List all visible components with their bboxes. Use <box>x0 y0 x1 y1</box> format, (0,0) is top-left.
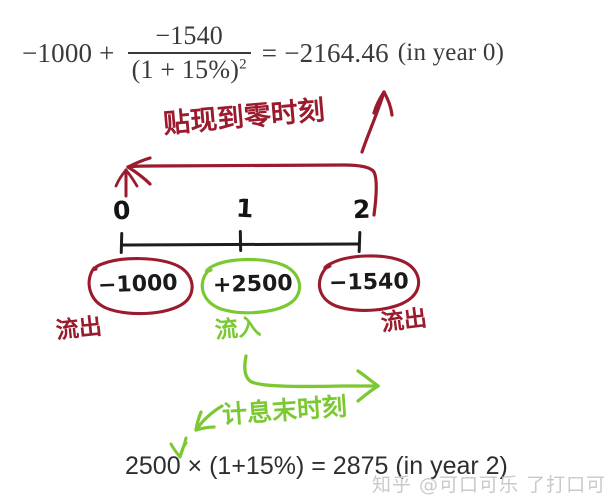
timeline-tick-year-1 <box>239 230 242 252</box>
cashflow-amount-year-0: −1000 <box>98 273 178 298</box>
denominator-base: (1 + 15%) <box>132 55 239 84</box>
top-formula-fraction: −1540 (1 + 15%)2 <box>128 22 251 83</box>
year-label-0: 0 <box>112 197 131 223</box>
top-formula-lead: −1000 + <box>22 38 115 69</box>
flow-label-year-1-inflow: 流入 <box>214 316 262 343</box>
red-annotation-discount-to-time-zero: 贴现到零时刻 <box>162 97 326 138</box>
top-formula-equals: = <box>262 38 277 69</box>
year-label-2: 2 <box>353 197 371 223</box>
fraction-denominator: (1 + 15%)2 <box>128 54 251 84</box>
cashflow-amount-year-1: +2500 <box>213 273 293 297</box>
year-label-1: 1 <box>235 196 254 222</box>
handwritten-cashflow-diagram: −1000 + −1540 (1 + 15%)2 = −2164.46 (in … <box>0 0 607 500</box>
green-arrow-down-to-formula <box>171 406 222 457</box>
timeline-tick-year-2 <box>358 231 362 253</box>
watermark: 知乎 @可口可乐 了打口可乐 <box>372 470 607 497</box>
green-annotation-compound-to-end: 计息末时刻 <box>221 394 347 428</box>
red-arrow-up-to-formula <box>362 92 392 152</box>
top-formula: −1000 + −1540 (1 + 15%)2 = −2164.46 (in … <box>22 18 592 88</box>
top-formula-result: −2164.46 <box>284 38 389 69</box>
timeline-tick-year-0 <box>120 232 124 254</box>
flow-label-year-0-outflow: 流出 <box>55 316 103 344</box>
denominator-exponent: 2 <box>239 56 247 72</box>
cashflow-amount-year-2: −1540 <box>329 271 409 294</box>
fraction-numerator: −1540 <box>147 22 231 51</box>
top-formula-tail: (in year 0) <box>398 39 504 67</box>
flow-label-year-2-outflow: 流出 <box>380 307 428 335</box>
